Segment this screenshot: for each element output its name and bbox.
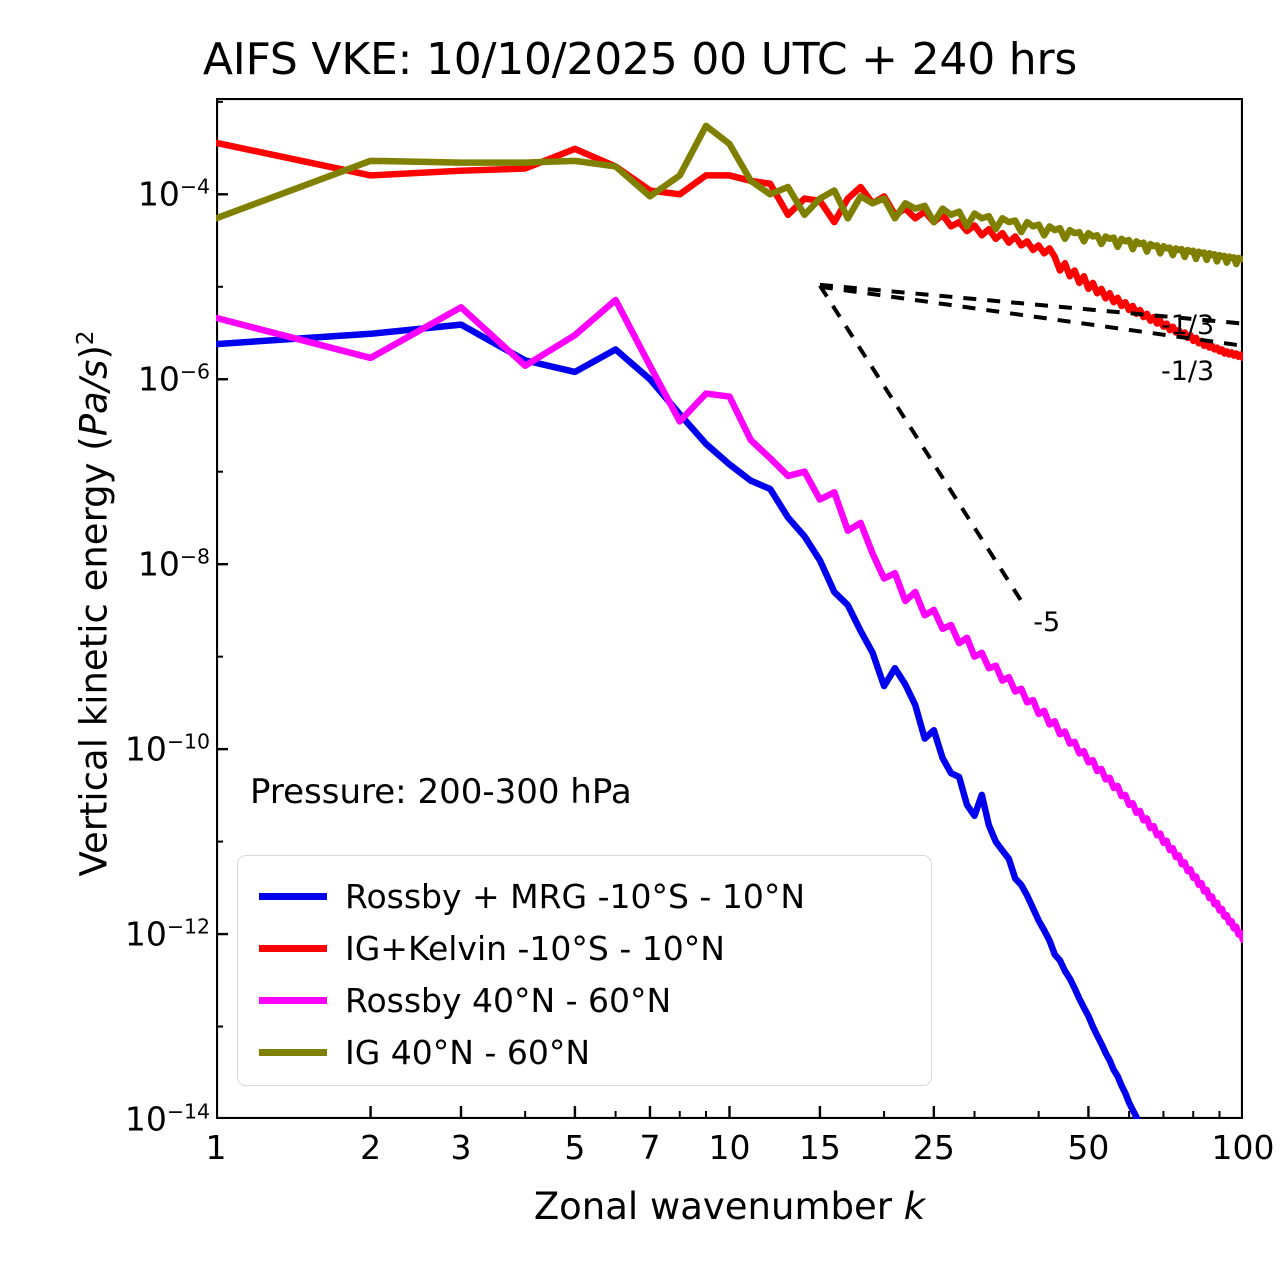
pressure-annotation: Pressure: 200-300 hPa [250,772,632,812]
y-tick-exponent: −4 [180,175,210,199]
legend-swatch-ig-kelvin [259,945,327,952]
x-axis-label-prefix: Zonal wavenumber [534,1185,904,1228]
x-axis-label-symbol: k [904,1185,925,1228]
legend-box: Rossby + MRG -10°S - 10°N IG+Kelvin -10°… [237,855,932,1086]
y-axis-label-exponent: 2 [73,331,99,346]
legend-label-rossby-mrg: Rossby + MRG -10°S - 10°N [345,877,805,916]
y-tick-exponent: −12 [167,915,210,939]
x-tick-label: 100 [1212,1128,1275,1167]
y-tick-base: 10 [125,730,167,769]
y-axis-label: Vertical kinetic energy (Pa/s)2 [73,224,116,984]
legend-item[interactable]: Rossby + MRG -10°S - 10°N [238,870,931,922]
x-tick-label: 5 [564,1128,585,1167]
slope-annotation-1: -1/3 [1161,356,1214,387]
legend-label-ig-midlat: IG 40°N - 60°N [345,1033,590,1072]
y-tick-exponent: −14 [167,1100,210,1124]
y-tick-base: 10 [125,1100,167,1139]
slope-annotation-0: -1/3 [1161,310,1214,341]
x-tick-label: 15 [799,1128,841,1167]
legend-item[interactable]: IG 40°N - 60°N [238,1026,931,1078]
y-tick-label: 10−10 [125,730,210,769]
x-tick-label: 1 [206,1128,227,1167]
y-tick-label: 10−6 [138,360,210,399]
y-tick-exponent: −10 [167,730,210,754]
y-axis-label-suffix: ) [73,345,116,359]
legend-swatch-rossby-midlat [259,997,327,1004]
legend-label-ig-kelvin: IG+Kelvin -10°S - 10°N [345,929,725,968]
y-tick-base: 10 [138,545,180,584]
legend-item[interactable]: IG+Kelvin -10°S - 10°N [238,922,931,974]
y-tick-base: 10 [125,915,167,954]
legend-swatch-rossby-mrg [259,893,327,900]
y-axis-label-prefix: Vertical kinetic energy ( [73,436,116,876]
y-tick-label: 10−4 [138,175,210,214]
y-axis-label-symbol: Pa/s [73,360,116,437]
x-tick-label: 7 [639,1128,660,1167]
reference-slope-line-2 [820,286,1021,601]
legend-label-rossby-midlat: Rossby 40°N - 60°N [345,981,671,1020]
y-tick-label: 10−8 [138,545,210,584]
series-line-2 [216,300,1243,940]
y-tick-base: 10 [138,175,180,214]
chart-title: AIFS VKE: 10/10/2025 00 UTC + 240 hrs [0,36,1280,84]
y-tick-exponent: −8 [180,545,210,569]
y-tick-label: 10−12 [125,915,210,954]
series-line-3 [216,126,1243,264]
x-axis-label: Zonal wavenumber k [216,1185,1243,1228]
x-tick-label: 3 [451,1128,472,1167]
legend-swatch-ig-midlat [259,1049,327,1056]
x-tick-label: 10 [709,1128,751,1167]
legend-item[interactable]: Rossby 40°N - 60°N [238,974,931,1026]
figure-canvas: AIFS VKE: 10/10/2025 00 UTC + 240 hrs Ve… [0,0,1280,1288]
x-tick-label: 2 [360,1128,381,1167]
y-tick-base: 10 [138,360,180,399]
x-tick-label: 25 [913,1128,955,1167]
x-tick-label: 50 [1067,1128,1109,1167]
y-tick-exponent: −6 [180,360,210,384]
slope-annotation-2: -5 [1033,607,1060,638]
y-tick-label: 10−14 [125,1100,210,1139]
